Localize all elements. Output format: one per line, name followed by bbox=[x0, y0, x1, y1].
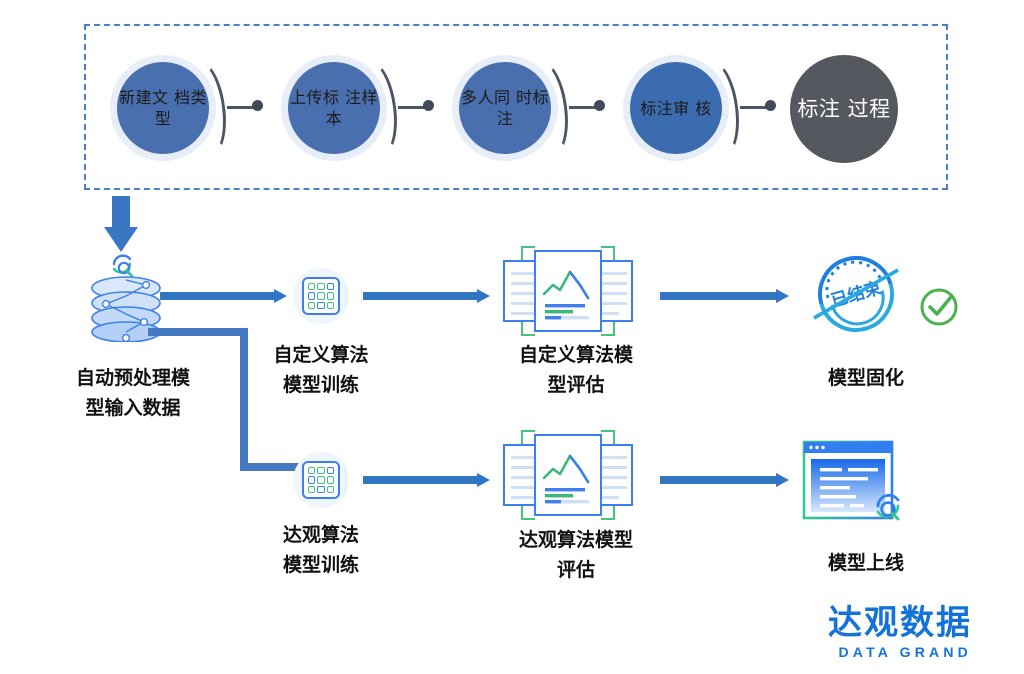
grid-cell bbox=[317, 302, 324, 309]
grid-cell bbox=[327, 292, 334, 299]
step-node-3[interactable]: 多人同 时标注 bbox=[452, 55, 558, 161]
arrow-head bbox=[274, 289, 287, 303]
grid-cell bbox=[317, 467, 324, 474]
step-node-4-label: 标注审 核 bbox=[630, 62, 722, 154]
arrow-head bbox=[104, 227, 138, 252]
green-check-icon bbox=[918, 286, 960, 328]
arrow-shaft bbox=[112, 196, 130, 230]
arrow-source-to-custom-train bbox=[160, 289, 288, 303]
arrow-head bbox=[776, 289, 789, 303]
grid-cell bbox=[327, 467, 334, 474]
step-node-1[interactable]: 新建文 档类型 bbox=[110, 55, 216, 161]
connector-dot-1 bbox=[252, 100, 263, 111]
grid-cell bbox=[308, 283, 315, 290]
arrow-datagrand-train-to-eval bbox=[363, 473, 491, 487]
model-evaluation-chart-icon-custom bbox=[503, 246, 633, 336]
eval-center-chart-card bbox=[534, 250, 602, 332]
connector-dot-3 bbox=[594, 100, 605, 111]
grid-cell bbox=[308, 302, 315, 309]
step-node-4[interactable]: 标注审 核 bbox=[623, 55, 729, 161]
step-node-3-label: 多人同 时标注 bbox=[459, 62, 551, 154]
step-node-2-label: 上传标 注样本 bbox=[288, 62, 380, 154]
arrow-shaft bbox=[660, 292, 776, 300]
eval-center-chart-card bbox=[534, 434, 602, 516]
finished-seal-icon: 已结束 bbox=[808, 254, 904, 334]
grid-cell bbox=[308, 476, 315, 483]
arrow-shaft bbox=[160, 292, 274, 300]
algorithm-grid-icon-custom bbox=[293, 268, 349, 324]
elbow-segment-vertical bbox=[240, 328, 248, 471]
arrow-head bbox=[477, 289, 490, 303]
grid-cell bbox=[317, 486, 324, 493]
arrow-datagrand-eval-to-result bbox=[660, 473, 790, 487]
grid-cell bbox=[327, 302, 334, 309]
datagrand-eval-label: 达观算法模型 评估 bbox=[496, 525, 656, 585]
diagram-canvas: 新建文 档类型 上传标 注样本 多人同 时标注 标注审 核 标注 过程 bbox=[0, 0, 1024, 674]
custom-eval-label: 自定义算法模 型评估 bbox=[496, 340, 656, 400]
step-node-summary[interactable]: 标注 过程 bbox=[790, 55, 898, 163]
datagrand-train-label: 达观算法 模型训练 bbox=[251, 520, 391, 580]
connector-dot-4 bbox=[765, 100, 776, 111]
custom-result-label: 模型固化 bbox=[786, 363, 946, 393]
brand-logo-cn: 达观数据 bbox=[828, 605, 972, 641]
connector-dot-2 bbox=[423, 100, 434, 111]
arrow-head bbox=[477, 473, 490, 487]
model-evaluation-chart-icon-datagrand bbox=[503, 430, 633, 520]
arrow-custom-eval-to-result bbox=[660, 289, 790, 303]
grid-cell bbox=[308, 467, 315, 474]
datagrand-result-label: 模型上线 bbox=[786, 548, 946, 578]
arrow-shaft bbox=[363, 292, 477, 300]
step-node-1-label: 新建文 档类型 bbox=[117, 62, 209, 154]
custom-train-label: 自定义算法 模型训练 bbox=[251, 340, 391, 400]
step-node-summary-label: 标注 过程 bbox=[790, 55, 898, 163]
brand-logo: 达观数据 DATA GRAND bbox=[828, 605, 972, 660]
arrow-head bbox=[776, 473, 789, 487]
grid-cell bbox=[308, 486, 315, 493]
arrow-custom-train-to-eval bbox=[363, 289, 491, 303]
grid-frame bbox=[302, 461, 340, 499]
elbow-segment-horizontal-1 bbox=[148, 328, 248, 336]
arrow-shaft bbox=[363, 476, 477, 484]
grid-cell bbox=[327, 283, 334, 290]
grid-cell bbox=[327, 486, 334, 493]
grid-cell bbox=[317, 292, 324, 299]
brand-logo-en: DATA GRAND bbox=[828, 644, 972, 660]
grid-cell bbox=[327, 476, 334, 483]
step-node-2[interactable]: 上传标 注样本 bbox=[281, 55, 387, 161]
grid-cell bbox=[317, 476, 324, 483]
flow-down-arrow bbox=[104, 196, 138, 252]
grid-cell bbox=[308, 292, 315, 299]
grid-cell bbox=[317, 283, 324, 290]
algorithm-grid-icon-datagrand bbox=[293, 452, 349, 508]
deploy-window-icon bbox=[800, 438, 912, 530]
grid-frame bbox=[302, 277, 340, 315]
arrow-shaft bbox=[660, 476, 776, 484]
